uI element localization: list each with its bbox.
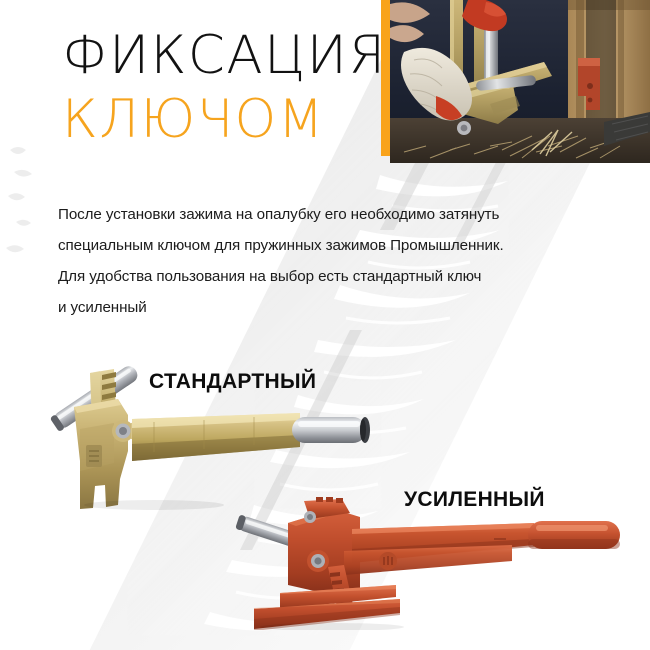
header-photo-block: Рабочий в перчатках затягивает пружинный… xyxy=(381,0,650,163)
body-description: После установки зажима на опалубку его н… xyxy=(58,199,598,323)
title-line-2: КЛЮЧОМ xyxy=(62,88,387,152)
body-line-3: Для удобства пользования на выбор есть с… xyxy=(58,261,598,292)
body-line-1: После установки зажима на опалубку его н… xyxy=(58,199,598,230)
body-line-4: и усиленный xyxy=(58,292,598,323)
page-title: ФИКСАЦИЯ КЛЮЧОМ xyxy=(62,24,387,152)
heavy-wrench-image xyxy=(232,495,632,630)
title-line-1: ФИКСАЦИЯ xyxy=(62,24,387,88)
infographic-canvas: Рабочий в перчатках затягивает пружинный… xyxy=(0,0,650,650)
standard-wrench-label: СТАНДАРТНЫЙ xyxy=(149,370,316,394)
heavy-wrench-label: УСИЛЕННЫЙ xyxy=(404,488,545,512)
body-line-2: специальным ключом для пружинных зажимов… xyxy=(58,230,598,261)
worker-clamp-photo: Рабочий в перчатках затягивает пружинный… xyxy=(390,0,650,163)
photo-frame: Рабочий в перчатках затягивает пружинный… xyxy=(390,0,650,163)
